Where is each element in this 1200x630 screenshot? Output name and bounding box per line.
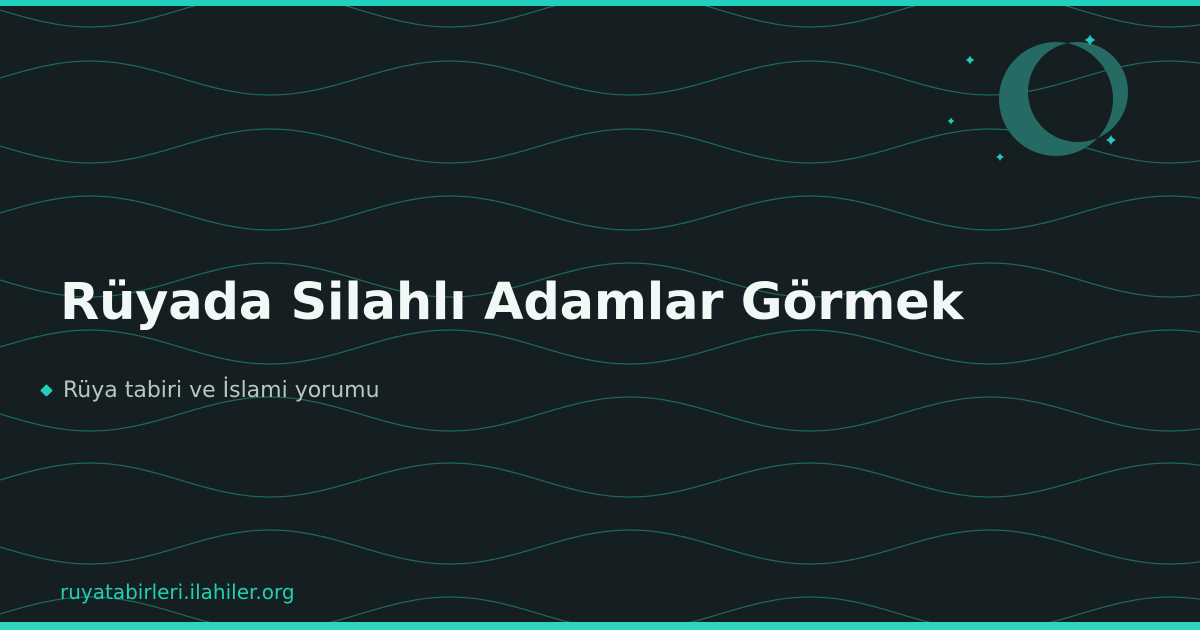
card-content: Rüyada Silahlı Adamlar Görmek Rüya tabir… (60, 0, 1140, 630)
diamond-bullet-icon (40, 384, 53, 397)
bottom-accent-bar (0, 622, 1200, 630)
page-title: Rüyada Silahlı Adamlar Görmek (60, 274, 963, 333)
site-url: ruyatabirleri.ilahiler.org (60, 580, 295, 604)
og-share-card: Rüyada Silahlı Adamlar Görmek Rüya tabir… (0, 0, 1200, 630)
subtitle-text: Rüya tabiri ve İslami yorumu (63, 378, 380, 403)
subtitle-row: Rüya tabiri ve İslami yorumu (42, 378, 380, 403)
